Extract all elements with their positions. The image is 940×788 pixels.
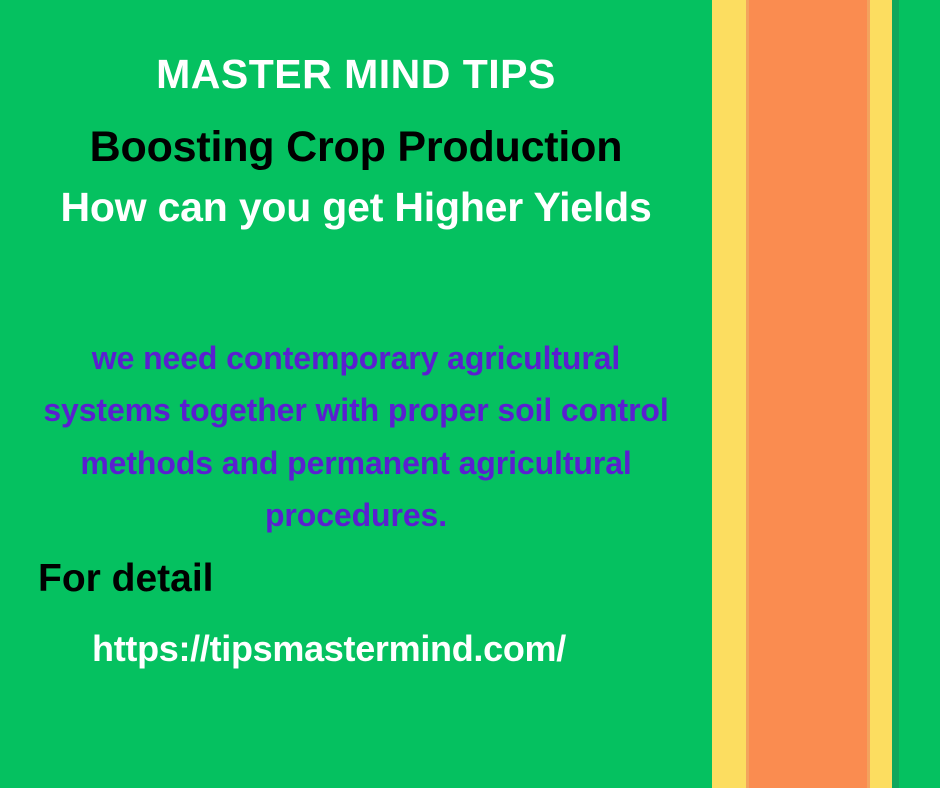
subheadline: How can you get Higher Yields — [0, 176, 712, 239]
cta-url-link[interactable]: https://tipsmastermind.com/ — [0, 630, 712, 669]
headline: Boosting Crop Production — [0, 124, 712, 170]
stripe-yellow-left — [712, 0, 746, 788]
stripe-green-dark — [892, 0, 899, 788]
cta-label: For detail — [0, 558, 712, 600]
brand-title: MASTER MIND TIPS — [0, 52, 712, 96]
decorative-stripe-band — [712, 0, 940, 788]
poster-content: MASTER MIND TIPS Boosting Crop Productio… — [0, 0, 712, 788]
stripe-orange-main — [749, 0, 867, 788]
body-copy: we need contemporary agricultural system… — [0, 332, 712, 542]
stripe-green-right — [899, 0, 940, 788]
promotional-poster: MASTER MIND TIPS Boosting Crop Productio… — [0, 0, 940, 788]
stripe-yellow-right — [870, 0, 892, 788]
